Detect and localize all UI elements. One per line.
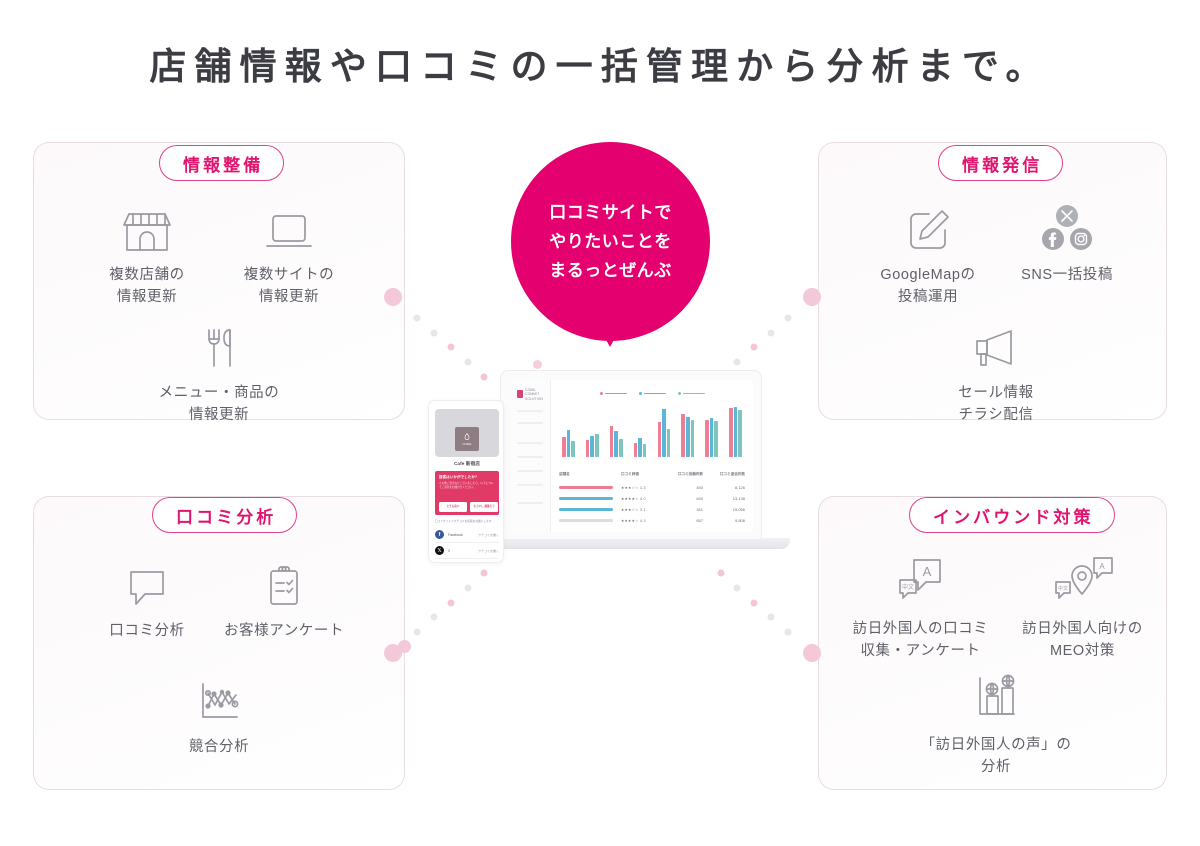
laptop-icon	[262, 198, 316, 254]
globe-bar-chart-icon	[967, 668, 1025, 724]
legend-dot	[639, 392, 642, 395]
feature-multi-site-update[interactable]: 複数サイトの 情報更新	[199, 198, 379, 309]
legend-bar	[683, 393, 705, 395]
brand-square-icon	[517, 390, 523, 398]
laptop-mockup: COMiL COMMIT SOLUTION	[500, 370, 790, 555]
feature-label: 複数店舗の 情報更新	[109, 264, 184, 309]
table-row[interactable]: ★★★★☆ 4.064013,138	[559, 493, 745, 504]
bar-group	[658, 409, 671, 457]
table-cell-replies: 13,138	[703, 496, 745, 501]
chart-bar	[691, 420, 695, 457]
map-pin-translate-icon: A 中文	[1050, 552, 1116, 608]
chart-bar	[686, 417, 690, 457]
chart-bar	[667, 429, 671, 458]
legend-dot	[600, 392, 603, 395]
legend-item	[678, 392, 705, 395]
feature-label: GoogleMapの 投稿運用	[880, 264, 975, 309]
chart-bar	[643, 444, 647, 457]
connector-top-left	[380, 285, 500, 400]
survey-body: その他ご意見などございましたら、以下についてご意見をお聞かせください。	[439, 482, 495, 490]
chart-bar	[658, 422, 662, 457]
chart-bar	[638, 438, 642, 457]
badge-joho-hasshin[interactable]: 情報発信	[938, 145, 1063, 181]
sidebar-item[interactable]	[517, 410, 543, 412]
infographic-stage: 店舗情報や口コミの一括管理から分析まで。 情報整備 情報	[0, 0, 1200, 846]
feature-label: 「訪日外国人の声」の 分析	[921, 734, 1072, 779]
table-cell-posts: 657	[665, 518, 703, 523]
table-cell-rating: ★★★☆☆ 3.1	[621, 508, 665, 512]
badge-kuchikomi-bunseki[interactable]: 口コミ分析	[152, 497, 297, 533]
list-item-action[interactable]: クチコミを書く	[478, 533, 499, 537]
survey-buttons: とても良い もう少し 頑張ろう	[439, 502, 498, 512]
chart-bar	[738, 410, 742, 457]
store-metrics-table: 店舗名口コミ評価口コミ投稿件数口コミ返信件数 ★★★☆☆ 3.34508,126…	[559, 472, 745, 526]
feature-label: 口コミ分析	[109, 620, 184, 642]
survey-title: 接客はいかがでしたか?	[439, 475, 495, 480]
legend-bar	[605, 393, 627, 395]
instagram-icon	[1070, 228, 1092, 250]
chart-bar	[729, 408, 733, 457]
feature-inbound-review-collect[interactable]: A 中文 訪日外国人の口コミ 収集・アンケート	[828, 552, 1013, 663]
phone-logo-text: COMiL	[462, 442, 471, 446]
phone-logo: COMiL	[455, 427, 479, 451]
table-row[interactable]: ★★★☆☆ 3.134115,056	[559, 504, 745, 515]
table-column-header: 口コミ評価	[621, 472, 665, 477]
table-cell-rating: ★★★★☆ 4.3	[621, 519, 665, 523]
table-cell-posts: 640	[665, 496, 703, 501]
store-name-placeholder	[559, 486, 613, 488]
feature-label: SNS一括投稿	[1021, 264, 1113, 286]
table-row[interactable]: ★★★☆☆ 3.34508,126	[559, 482, 745, 493]
table-cell-replies: 15,056	[703, 507, 745, 512]
bar-group	[681, 414, 694, 457]
phone-review-site-list: f Facebook クチコミを書く 𝕏 X クチコミを書く	[435, 527, 499, 559]
badge-joho-seibi[interactable]: 情報整備	[159, 145, 284, 181]
feature-label: お客様アンケート	[224, 620, 344, 642]
feature-sns-bulk-post[interactable]: SNS一括投稿	[977, 198, 1157, 286]
feature-label: 訪日外国人の口コミ 収集・アンケート	[853, 618, 989, 663]
connector-bottom-right	[700, 550, 825, 665]
table-cell-store-name	[559, 519, 621, 521]
brand-logo: COMiL COMMIT SOLUTION	[517, 388, 550, 401]
chart-bar	[734, 407, 738, 457]
survey-button-improve[interactable]: もう少し 頑張ろう	[470, 502, 498, 512]
legend-item	[639, 392, 666, 395]
translate-bubble-icon: A 中文	[888, 552, 954, 608]
feature-inbound-meo[interactable]: A 中文 訪日外国人向けの MEO対策	[990, 552, 1175, 663]
legend-item	[600, 392, 627, 395]
pencil-square-icon	[901, 198, 955, 254]
decorative-dot	[533, 360, 542, 369]
brand-subtitle: COMMIT SOLUTION	[525, 392, 550, 401]
sidebar-item[interactable]	[517, 470, 543, 472]
phone-store-name: Cafe 新宿店	[429, 461, 504, 467]
center-bubble: 口コミサイトで やりたいことを まるっとぜんぶ	[511, 142, 710, 341]
dashboard-sidebar: COMiL COMMIT SOLUTION	[511, 380, 551, 532]
svg-text:A: A	[1099, 562, 1105, 571]
store-name-placeholder	[559, 497, 613, 499]
table-cell-posts: 450	[665, 485, 703, 490]
badge-inbound-taisaku[interactable]: インバウンド対策	[909, 497, 1115, 533]
bar-group	[705, 418, 718, 457]
legend-dot	[678, 392, 681, 395]
table-cell-posts: 341	[665, 507, 703, 512]
chart-bar	[619, 439, 623, 457]
list-item[interactable]: 𝕏 X クチコミを書く	[435, 543, 499, 559]
chart-bar	[590, 436, 594, 457]
chart-bar	[562, 437, 566, 457]
list-item[interactable]: f Facebook クチコミを書く	[435, 527, 499, 543]
feature-label: 競合分析	[189, 736, 249, 758]
table-cell-store-name	[559, 486, 621, 488]
phone-mockup: COMiL Cafe 新宿店 接客はいかがでしたか? その他ご意見などございまし…	[428, 400, 504, 563]
feature-label: 複数サイトの 情報更新	[244, 264, 334, 309]
fork-knife-icon	[192, 316, 246, 372]
phone-list-note: 口コミサイトヘクチコミを投稿をお願いします	[435, 519, 491, 523]
bar-group	[562, 430, 575, 457]
feature-label: メニュー・商品の 情報更新	[159, 382, 280, 427]
table-cell-replies: 9,806	[703, 518, 745, 523]
chart-bar	[662, 409, 666, 457]
center-bubble-text: 口コミサイトで やりたいことを まるっとぜんぶ	[549, 198, 672, 286]
list-item-name: Facebook	[448, 533, 478, 537]
sidebar-item[interactable]	[517, 484, 543, 486]
table-header-row: 店舗名口コミ評価口コミ投稿件数口コミ返信件数	[559, 472, 745, 477]
speech-bubble-icon	[119, 554, 175, 610]
chart-bar	[586, 440, 590, 457]
list-item-name: X	[448, 549, 478, 553]
sidebar-item[interactable]	[517, 442, 543, 444]
laptop-screen: COMiL COMMIT SOLUTION	[511, 380, 753, 532]
svg-text:中文: 中文	[901, 583, 913, 591]
chart-bar	[681, 414, 685, 457]
feature-inbound-voice-analysis[interactable]: 「訪日外国人の声」の 分析	[906, 668, 1086, 779]
survey-button-good[interactable]: とても良い	[439, 502, 467, 512]
laptop-lid: COMiL COMMIT SOLUTION	[500, 370, 762, 540]
facebook-icon: f	[435, 530, 444, 539]
chart-bar	[571, 441, 575, 457]
table-column-header: 口コミ投稿件数	[665, 472, 703, 477]
x-twitter-icon: 𝕏	[435, 546, 444, 555]
feature-customer-survey[interactable]: お客様アンケート	[194, 554, 374, 642]
table-cell-rating: ★★★☆☆ 3.3	[621, 486, 665, 490]
sidebar-item[interactable]	[517, 502, 543, 504]
chart-bar	[595, 434, 599, 457]
feature-label: 訪日外国人向けの MEO対策	[1022, 618, 1143, 663]
megaphone-icon	[967, 316, 1025, 372]
table-cell-replies: 8,126	[703, 485, 745, 490]
chart-bar	[705, 420, 709, 457]
list-item-action[interactable]: クチコミを書く	[478, 549, 499, 553]
bar-group	[610, 426, 623, 457]
feature-label: セール情報 チラシ配信	[958, 382, 1033, 427]
decorative-dot	[398, 640, 411, 653]
phone-survey-card: 接客はいかがでしたか? その他ご意見などございましたら、以下についてご意見をお聞…	[435, 471, 499, 515]
chart-legend	[559, 392, 745, 395]
chart-bar	[634, 443, 638, 457]
bar-group	[729, 407, 742, 457]
table-column-header: 店舗名	[559, 472, 621, 477]
chart-bar	[610, 426, 614, 457]
feature-sale-flyer[interactable]: セール情報 チラシ配信	[906, 316, 1086, 427]
legend-bar	[644, 393, 666, 395]
line-chart-icon	[190, 670, 248, 726]
storefront-icon	[120, 198, 174, 254]
chart-bar	[614, 431, 618, 457]
bar-group	[586, 434, 599, 457]
table-column-header: 口コミ返信件数	[703, 472, 745, 477]
chart-bar	[714, 421, 718, 457]
bar-group	[634, 438, 647, 457]
table-body: ★★★☆☆ 3.34508,126★★★★☆ 4.064013,138★★★☆☆…	[559, 482, 745, 526]
clipboard-check-icon	[257, 554, 311, 610]
feature-menu-product-update[interactable]: メニュー・商品の 情報更新	[129, 316, 309, 427]
sidebar-item[interactable]	[517, 422, 543, 424]
chart-bar	[567, 430, 571, 457]
table-cell-rating: ★★★★☆ 4.0	[621, 497, 665, 501]
store-name-placeholder	[559, 508, 613, 510]
store-name-placeholder	[559, 519, 613, 521]
chart-bar	[710, 418, 714, 457]
sidebar-item[interactable]	[517, 456, 543, 458]
review-bar-chart	[559, 392, 745, 464]
sns-icons	[1032, 198, 1102, 254]
chart-bars	[559, 399, 745, 457]
table-cell-store-name	[559, 497, 621, 499]
page-title: 店舗情報や口コミの一括管理から分析まで。	[0, 36, 1200, 90]
table-row[interactable]: ★★★★☆ 4.36579,806	[559, 515, 745, 526]
table-cell-store-name	[559, 508, 621, 510]
feature-competitor-analysis[interactable]: 競合分析	[129, 670, 309, 758]
svg-text:中文: 中文	[1057, 585, 1067, 592]
svg-text:A: A	[922, 564, 931, 579]
